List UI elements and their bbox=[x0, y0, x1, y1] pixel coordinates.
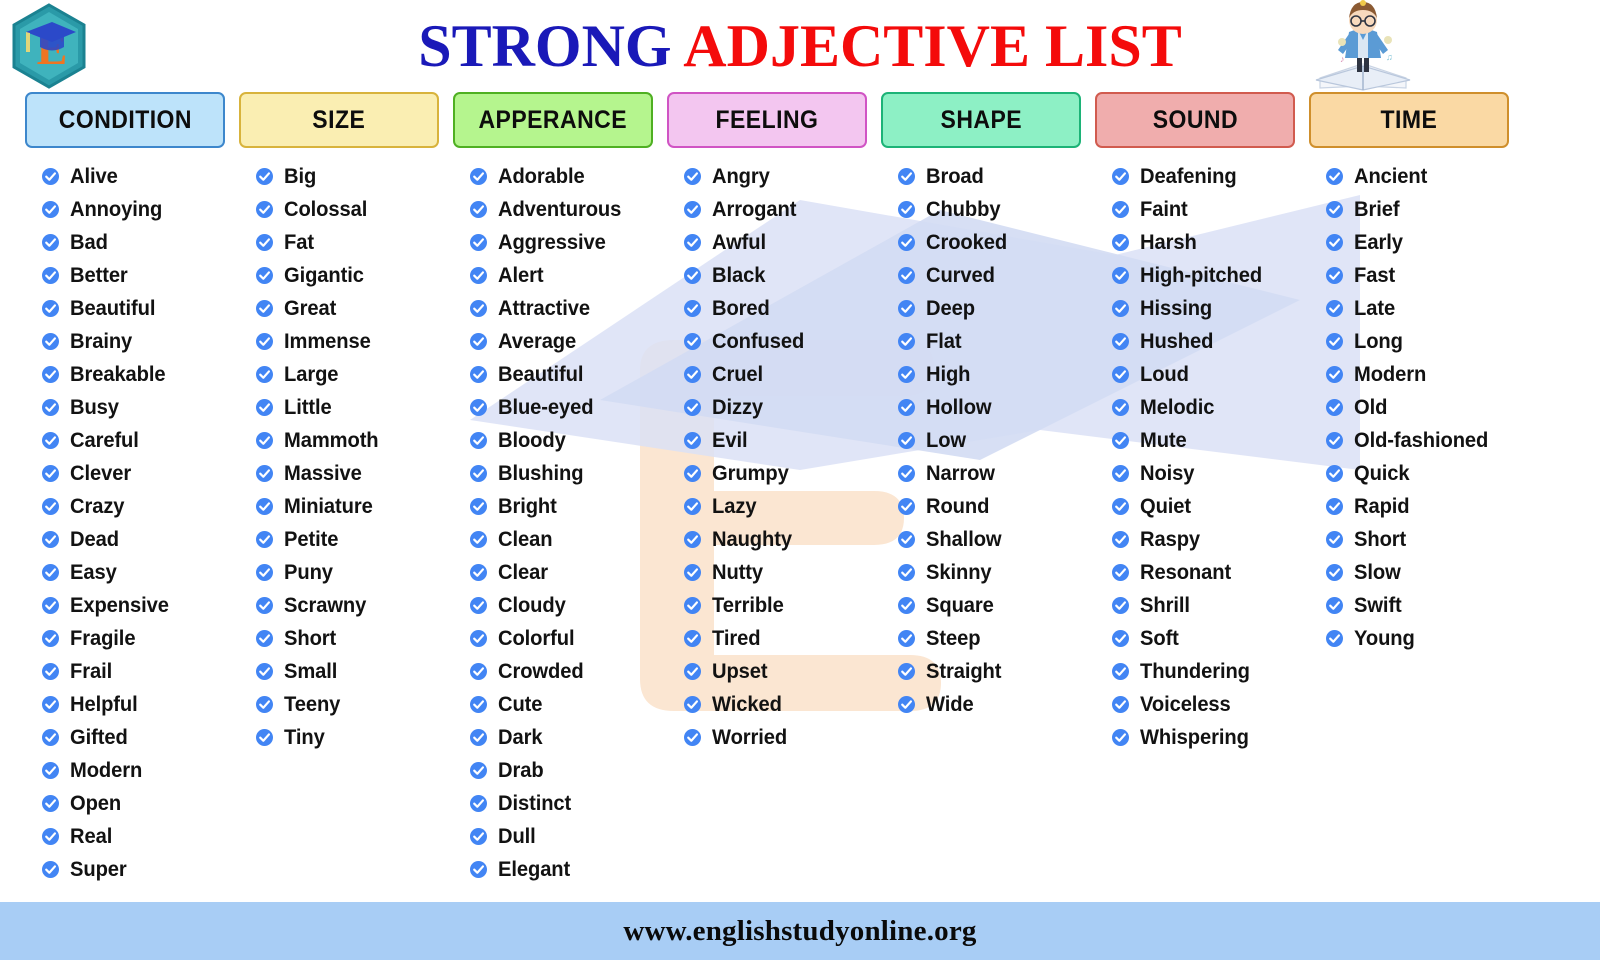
check-circle-icon bbox=[898, 267, 915, 284]
word-label: Clever bbox=[70, 462, 131, 486]
list-item[interactable]: Alert bbox=[450, 259, 664, 292]
word-label: Quick bbox=[1354, 462, 1410, 486]
list-item[interactable]: Petite bbox=[236, 523, 450, 556]
list-item[interactable]: Raspy bbox=[1092, 523, 1306, 556]
check-circle-icon bbox=[256, 597, 273, 614]
check-circle-icon bbox=[684, 300, 701, 317]
word-label: Fragile bbox=[70, 627, 135, 651]
footer-url[interactable]: www.englishstudyonline.org bbox=[623, 915, 976, 948]
list-item[interactable]: Rapid bbox=[1306, 490, 1520, 523]
word-label: Aggressive bbox=[498, 231, 606, 255]
list-item[interactable]: Super bbox=[22, 853, 236, 886]
word-label: Tired bbox=[712, 627, 760, 651]
list-item[interactable]: Easy bbox=[22, 556, 236, 589]
list-item[interactable]: Upset bbox=[664, 655, 878, 688]
list-item[interactable]: Straight bbox=[878, 655, 1092, 688]
word-label: Open bbox=[70, 792, 121, 816]
word-label: Alert bbox=[498, 264, 543, 288]
list-item[interactable]: Colossal bbox=[236, 193, 450, 226]
check-circle-icon bbox=[42, 201, 59, 218]
check-circle-icon bbox=[684, 399, 701, 416]
list-item[interactable]: Brainy bbox=[22, 325, 236, 358]
word-label: Mammoth bbox=[284, 429, 379, 453]
word-label: Deep bbox=[926, 297, 975, 321]
word-label: Young bbox=[1354, 627, 1415, 651]
check-circle-icon bbox=[684, 432, 701, 449]
word-label: Grumpy bbox=[712, 462, 789, 486]
check-circle-icon bbox=[898, 432, 915, 449]
list-item[interactable]: Low bbox=[878, 424, 1092, 457]
word-label: Careful bbox=[70, 429, 139, 453]
list-item[interactable]: Big bbox=[236, 160, 450, 193]
word-label: Faint bbox=[1140, 198, 1188, 222]
list-item[interactable]: Bright bbox=[450, 490, 664, 523]
list-item[interactable]: Dull bbox=[450, 820, 664, 853]
list-item[interactable]: Swift bbox=[1306, 589, 1520, 622]
word-label: Fast bbox=[1354, 264, 1395, 288]
word-label: Blue-eyed bbox=[498, 396, 593, 420]
list-item[interactable]: Faint bbox=[1092, 193, 1306, 226]
list-item[interactable]: Dark bbox=[450, 721, 664, 754]
list-item[interactable]: Average bbox=[450, 325, 664, 358]
word-label: Lazy bbox=[712, 495, 756, 519]
check-circle-icon bbox=[470, 564, 487, 581]
list-item[interactable]: Better bbox=[22, 259, 236, 292]
list-item[interactable]: Melodic bbox=[1092, 391, 1306, 424]
check-circle-icon bbox=[470, 762, 487, 779]
check-circle-icon bbox=[470, 795, 487, 812]
list-item[interactable]: Broad bbox=[878, 160, 1092, 193]
word-label: Low bbox=[926, 429, 966, 453]
list-item[interactable]: Little bbox=[236, 391, 450, 424]
category-header-label: APPERANCE bbox=[479, 106, 628, 135]
list-item[interactable]: Crazy bbox=[22, 490, 236, 523]
list-item[interactable]: Voiceless bbox=[1092, 688, 1306, 721]
check-circle-icon bbox=[470, 663, 487, 680]
word-label: Frail bbox=[70, 660, 112, 684]
word-label: Hollow bbox=[926, 396, 992, 420]
word-label: Dizzy bbox=[712, 396, 763, 420]
list-item[interactable]: Puny bbox=[236, 556, 450, 589]
check-circle-icon bbox=[684, 531, 701, 548]
check-circle-icon bbox=[256, 465, 273, 482]
check-circle-icon bbox=[1112, 168, 1129, 185]
category-header-sound[interactable]: SOUND bbox=[1095, 92, 1295, 148]
check-circle-icon bbox=[42, 597, 59, 614]
check-circle-icon bbox=[1112, 630, 1129, 647]
list-item[interactable]: Mammoth bbox=[236, 424, 450, 457]
word-label: Blushing bbox=[498, 462, 583, 486]
list-item[interactable]: Deafening bbox=[1092, 160, 1306, 193]
category-header-label: TIME bbox=[1381, 106, 1438, 135]
list-item[interactable]: Careful bbox=[22, 424, 236, 457]
list-item[interactable]: Fat bbox=[236, 226, 450, 259]
list-item[interactable]: Hushed bbox=[1092, 325, 1306, 358]
word-label: Real bbox=[70, 825, 112, 849]
list-item[interactable]: Teeny bbox=[236, 688, 450, 721]
list-item[interactable]: Noisy bbox=[1092, 457, 1306, 490]
word-label: Early bbox=[1354, 231, 1403, 255]
list-item[interactable]: Lazy bbox=[664, 490, 878, 523]
check-circle-icon bbox=[1326, 333, 1343, 350]
list-item[interactable]: Narrow bbox=[878, 457, 1092, 490]
category-header-label: SOUND bbox=[1152, 106, 1237, 135]
list-item[interactable]: Flat bbox=[878, 325, 1092, 358]
word-label: Little bbox=[284, 396, 332, 420]
list-item[interactable]: Helpful bbox=[22, 688, 236, 721]
list-item[interactable]: Young bbox=[1306, 622, 1520, 655]
list-item[interactable]: Thundering bbox=[1092, 655, 1306, 688]
word-label: Bored bbox=[712, 297, 770, 321]
list-item[interactable]: Quiet bbox=[1092, 490, 1306, 523]
list-item[interactable]: Breakable bbox=[22, 358, 236, 391]
word-label: Easy bbox=[70, 561, 117, 585]
word-label: Upset bbox=[712, 660, 768, 684]
word-label: Bad bbox=[70, 231, 108, 255]
word-label: Hushed bbox=[1140, 330, 1213, 354]
list-item[interactable]: Massive bbox=[236, 457, 450, 490]
check-circle-icon bbox=[470, 828, 487, 845]
list-item[interactable]: Square bbox=[878, 589, 1092, 622]
category-header-apperance[interactable]: APPERANCE bbox=[453, 92, 653, 148]
list-item[interactable]: Short bbox=[1306, 523, 1520, 556]
word-label: Naughty bbox=[712, 528, 792, 552]
list-item[interactable]: Harsh bbox=[1092, 226, 1306, 259]
check-circle-icon bbox=[898, 663, 915, 680]
list-item[interactable]: Soft bbox=[1092, 622, 1306, 655]
list-item[interactable]: Wide bbox=[878, 688, 1092, 721]
list-item[interactable]: Tiny bbox=[236, 721, 450, 754]
list-item[interactable]: Steep bbox=[878, 622, 1092, 655]
check-circle-icon bbox=[1326, 531, 1343, 548]
check-circle-icon bbox=[42, 696, 59, 713]
word-label: Miniature bbox=[284, 495, 373, 519]
check-circle-icon bbox=[42, 663, 59, 680]
check-circle-icon bbox=[470, 729, 487, 746]
check-circle-icon bbox=[42, 531, 59, 548]
list-item[interactable]: Terrible bbox=[664, 589, 878, 622]
check-circle-icon bbox=[256, 168, 273, 185]
check-circle-icon bbox=[1112, 234, 1129, 251]
list-item[interactable]: Bad bbox=[22, 226, 236, 259]
word-label: Average bbox=[498, 330, 576, 354]
check-circle-icon bbox=[1112, 267, 1129, 284]
check-circle-icon bbox=[1112, 564, 1129, 581]
word-label: Noisy bbox=[1140, 462, 1194, 486]
check-circle-icon bbox=[684, 498, 701, 515]
check-circle-icon bbox=[1326, 564, 1343, 581]
list-item[interactable]: Old bbox=[1306, 391, 1520, 424]
footer-band: www.englishstudyonline.org bbox=[0, 902, 1600, 960]
word-label: Better bbox=[70, 264, 128, 288]
check-circle-icon bbox=[684, 267, 701, 284]
word-label: Broad bbox=[926, 165, 984, 189]
check-circle-icon bbox=[1326, 465, 1343, 482]
list-item[interactable]: Annoying bbox=[22, 193, 236, 226]
check-circle-icon bbox=[1326, 597, 1343, 614]
check-circle-icon bbox=[684, 663, 701, 680]
list-item[interactable]: Large bbox=[236, 358, 450, 391]
list-item[interactable]: Mute bbox=[1092, 424, 1306, 457]
category-header-shape[interactable]: SHAPE bbox=[881, 92, 1081, 148]
page-title-strong: STRONG bbox=[418, 13, 683, 79]
list-item[interactable]: Elegant bbox=[450, 853, 664, 886]
word-label: Great bbox=[284, 297, 336, 321]
list-item[interactable]: Blue-eyed bbox=[450, 391, 664, 424]
check-circle-icon bbox=[1112, 729, 1129, 746]
check-circle-icon bbox=[1112, 201, 1129, 218]
page-title-adjective-list: ADJECTIVE LIST bbox=[683, 13, 1182, 79]
list-item[interactable]: Evil bbox=[664, 424, 878, 457]
list-item[interactable]: Shrill bbox=[1092, 589, 1306, 622]
list-item[interactable]: Slow bbox=[1306, 556, 1520, 589]
word-list-sound: DeafeningFaintHarshHigh-pitchedHissingHu… bbox=[1092, 160, 1306, 754]
check-circle-icon bbox=[898, 234, 915, 251]
list-item[interactable]: Real bbox=[22, 820, 236, 853]
word-label: Teeny bbox=[284, 693, 340, 717]
list-item[interactable]: Grumpy bbox=[664, 457, 878, 490]
list-item[interactable]: Attractive bbox=[450, 292, 664, 325]
list-item[interactable]: Cute bbox=[450, 688, 664, 721]
list-item[interactable]: Clean bbox=[450, 523, 664, 556]
list-item[interactable]: Miniature bbox=[236, 490, 450, 523]
list-item[interactable]: Bored bbox=[664, 292, 878, 325]
word-label: Loud bbox=[1140, 363, 1189, 387]
person-on-book-illustration-icon: ♪ ♫ bbox=[1308, 0, 1418, 92]
word-label: Busy bbox=[70, 396, 119, 420]
word-label: Rapid bbox=[1354, 495, 1410, 519]
list-item[interactable]: Nutty bbox=[664, 556, 878, 589]
list-item[interactable]: Drab bbox=[450, 754, 664, 787]
check-circle-icon bbox=[256, 729, 273, 746]
list-item[interactable]: Early bbox=[1306, 226, 1520, 259]
list-item[interactable]: Crowded bbox=[450, 655, 664, 688]
list-item[interactable]: Beautiful bbox=[22, 292, 236, 325]
list-item[interactable]: Frail bbox=[22, 655, 236, 688]
list-item[interactable]: Late bbox=[1306, 292, 1520, 325]
list-item[interactable]: Distinct bbox=[450, 787, 664, 820]
word-label: Immense bbox=[284, 330, 371, 354]
check-circle-icon bbox=[1112, 432, 1129, 449]
word-label: Nutty bbox=[712, 561, 763, 585]
word-label: Crowded bbox=[498, 660, 584, 684]
word-label: Brief bbox=[1354, 198, 1399, 222]
word-label: Annoying bbox=[70, 198, 162, 222]
word-label: Short bbox=[284, 627, 336, 651]
check-circle-icon bbox=[42, 795, 59, 812]
list-item[interactable]: Adorable bbox=[450, 160, 664, 193]
check-circle-icon bbox=[42, 399, 59, 416]
check-circle-icon bbox=[42, 564, 59, 581]
check-circle-icon bbox=[42, 366, 59, 383]
list-item[interactable]: Modern bbox=[22, 754, 236, 787]
list-item[interactable]: Clear bbox=[450, 556, 664, 589]
word-label: Cute bbox=[498, 693, 542, 717]
list-item[interactable]: Whispering bbox=[1092, 721, 1306, 754]
check-circle-icon bbox=[256, 432, 273, 449]
list-item[interactable]: Naughty bbox=[664, 523, 878, 556]
list-item[interactable]: Confused bbox=[664, 325, 878, 358]
list-item[interactable]: Long bbox=[1306, 325, 1520, 358]
list-item[interactable]: Aggressive bbox=[450, 226, 664, 259]
list-item[interactable]: Dead bbox=[22, 523, 236, 556]
check-circle-icon bbox=[898, 597, 915, 614]
list-item[interactable]: Awful bbox=[664, 226, 878, 259]
word-list-size: BigColossalFatGiganticGreatImmenseLargeL… bbox=[236, 160, 450, 754]
category-header-label: SIZE bbox=[313, 106, 366, 135]
category-column-size: SIZEBigColossalFatGiganticGreatImmenseLa… bbox=[236, 92, 450, 886]
category-header-label: FEELING bbox=[716, 106, 819, 135]
check-circle-icon bbox=[470, 861, 487, 878]
check-circle-icon bbox=[256, 564, 273, 581]
check-circle-icon bbox=[42, 465, 59, 482]
list-item[interactable]: Great bbox=[236, 292, 450, 325]
list-item[interactable]: Modern bbox=[1306, 358, 1520, 391]
list-item[interactable]: Bloody bbox=[450, 424, 664, 457]
word-label: Modern bbox=[70, 759, 142, 783]
list-item[interactable]: Cloudy bbox=[450, 589, 664, 622]
check-circle-icon bbox=[898, 498, 915, 515]
check-circle-icon bbox=[470, 630, 487, 647]
word-label: Awful bbox=[712, 231, 766, 255]
category-column-feeling: FEELINGAngryArrogantAwfulBlackBoredConfu… bbox=[664, 92, 878, 886]
list-item[interactable]: Alive bbox=[22, 160, 236, 193]
check-circle-icon bbox=[470, 498, 487, 515]
list-item[interactable]: Gigantic bbox=[236, 259, 450, 292]
list-item[interactable]: Quick bbox=[1306, 457, 1520, 490]
word-list-feeling: AngryArrogantAwfulBlackBoredConfusedCrue… bbox=[664, 160, 878, 754]
list-item[interactable]: High-pitched bbox=[1092, 259, 1306, 292]
check-circle-icon bbox=[256, 399, 273, 416]
check-circle-icon bbox=[1112, 498, 1129, 515]
word-label: Bright bbox=[498, 495, 557, 519]
list-item[interactable]: High bbox=[878, 358, 1092, 391]
list-item[interactable]: Gifted bbox=[22, 721, 236, 754]
list-item[interactable]: Fragile bbox=[22, 622, 236, 655]
list-item[interactable]: Dizzy bbox=[664, 391, 878, 424]
list-item[interactable]: Resonant bbox=[1092, 556, 1306, 589]
check-circle-icon bbox=[898, 630, 915, 647]
word-label: Large bbox=[284, 363, 338, 387]
word-label: Resonant bbox=[1140, 561, 1231, 585]
check-circle-icon bbox=[1326, 201, 1343, 218]
word-label: Beautiful bbox=[70, 297, 155, 321]
check-circle-icon bbox=[256, 201, 273, 218]
check-circle-icon bbox=[898, 465, 915, 482]
word-label: Harsh bbox=[1140, 231, 1197, 255]
list-item[interactable]: Tired bbox=[664, 622, 878, 655]
word-label: Short bbox=[1354, 528, 1406, 552]
list-item[interactable]: Short bbox=[236, 622, 450, 655]
word-label: Deafening bbox=[1140, 165, 1237, 189]
list-item[interactable]: Shallow bbox=[878, 523, 1092, 556]
list-item[interactable]: Colorful bbox=[450, 622, 664, 655]
list-item[interactable]: Old-fashioned bbox=[1306, 424, 1520, 457]
list-item[interactable]: Clever bbox=[22, 457, 236, 490]
check-circle-icon bbox=[42, 828, 59, 845]
list-item[interactable]: Wicked bbox=[664, 688, 878, 721]
word-label: Wide bbox=[926, 693, 974, 717]
list-item[interactable]: Open bbox=[22, 787, 236, 820]
list-item[interactable]: Hollow bbox=[878, 391, 1092, 424]
word-label: Black bbox=[712, 264, 765, 288]
list-item[interactable]: Chubby bbox=[878, 193, 1092, 226]
list-item[interactable]: Skinny bbox=[878, 556, 1092, 589]
check-circle-icon bbox=[684, 465, 701, 482]
check-circle-icon bbox=[684, 168, 701, 185]
word-label: Raspy bbox=[1140, 528, 1200, 552]
check-circle-icon bbox=[256, 267, 273, 284]
list-item[interactable]: Brief bbox=[1306, 193, 1520, 226]
poster-header: E STRONG ADJECTIVE LIST bbox=[0, 0, 1600, 92]
word-label: Slow bbox=[1354, 561, 1401, 585]
word-label: Ancient bbox=[1354, 165, 1427, 189]
list-item[interactable]: Hissing bbox=[1092, 292, 1306, 325]
check-circle-icon bbox=[470, 168, 487, 185]
list-item[interactable]: Ancient bbox=[1306, 160, 1520, 193]
word-label: Colossal bbox=[284, 198, 367, 222]
list-item[interactable]: Blushing bbox=[450, 457, 664, 490]
word-label: Gifted bbox=[70, 726, 128, 750]
check-circle-icon bbox=[684, 630, 701, 647]
list-item[interactable]: Crooked bbox=[878, 226, 1092, 259]
list-item[interactable]: Small bbox=[236, 655, 450, 688]
category-header-time[interactable]: TIME bbox=[1309, 92, 1509, 148]
category-column-sound: SOUNDDeafeningFaintHarshHigh-pitchedHiss… bbox=[1092, 92, 1306, 886]
check-circle-icon bbox=[1326, 168, 1343, 185]
list-item[interactable]: Cruel bbox=[664, 358, 878, 391]
word-label: Super bbox=[70, 858, 127, 882]
list-item[interactable]: Black bbox=[664, 259, 878, 292]
list-item[interactable]: Curved bbox=[878, 259, 1092, 292]
category-header-feeling[interactable]: FEELING bbox=[667, 92, 867, 148]
word-label: Wicked bbox=[712, 693, 782, 717]
category-header-condition[interactable]: CONDITION bbox=[25, 92, 225, 148]
check-circle-icon bbox=[684, 201, 701, 218]
list-item[interactable]: Expensive bbox=[22, 589, 236, 622]
list-item[interactable]: Fast bbox=[1306, 259, 1520, 292]
check-circle-icon bbox=[256, 696, 273, 713]
word-label: Thundering bbox=[1140, 660, 1250, 684]
check-circle-icon bbox=[470, 366, 487, 383]
category-header-size[interactable]: SIZE bbox=[239, 92, 439, 148]
list-item[interactable]: Adventurous bbox=[450, 193, 664, 226]
list-item[interactable]: Worried bbox=[664, 721, 878, 754]
word-label: Voiceless bbox=[1140, 693, 1231, 717]
check-circle-icon bbox=[1326, 432, 1343, 449]
word-label: Narrow bbox=[926, 462, 995, 486]
list-item[interactable]: Scrawny bbox=[236, 589, 450, 622]
word-label: Soft bbox=[1140, 627, 1179, 651]
word-label: Whispering bbox=[1140, 726, 1249, 750]
list-item[interactable]: Arrogant bbox=[664, 193, 878, 226]
check-circle-icon bbox=[42, 234, 59, 251]
list-item[interactable]: Deep bbox=[878, 292, 1092, 325]
list-item[interactable]: Round bbox=[878, 490, 1092, 523]
word-label: Breakable bbox=[70, 363, 166, 387]
list-item[interactable]: Immense bbox=[236, 325, 450, 358]
list-item[interactable]: Loud bbox=[1092, 358, 1306, 391]
list-item[interactable]: Busy bbox=[22, 391, 236, 424]
check-circle-icon bbox=[898, 300, 915, 317]
list-item[interactable]: Angry bbox=[664, 160, 878, 193]
check-circle-icon bbox=[1326, 300, 1343, 317]
word-label: Distinct bbox=[498, 792, 571, 816]
word-label: Shrill bbox=[1140, 594, 1190, 618]
list-item[interactable]: Beautiful bbox=[450, 358, 664, 391]
check-circle-icon bbox=[256, 234, 273, 251]
word-label: Dull bbox=[498, 825, 536, 849]
